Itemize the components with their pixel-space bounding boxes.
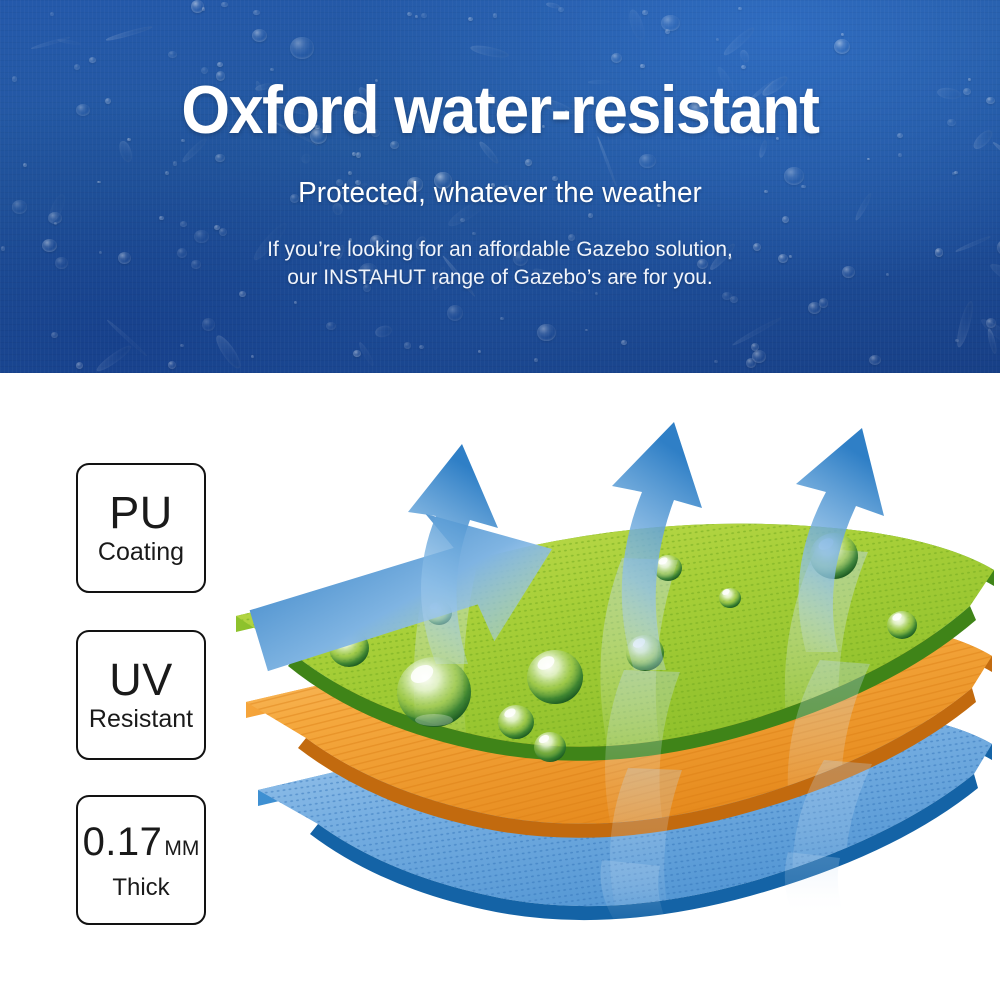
page-title: Oxford water-resistant [40,74,960,146]
droplet [397,657,471,727]
water-drop [217,62,223,67]
water-drop [869,355,881,365]
water-drop [348,171,352,175]
water-drop [352,152,356,156]
water-drop [251,355,254,358]
water-drop [738,7,742,11]
water-drop [407,12,412,16]
water-drop [751,343,760,351]
badge-uv-sub: Resistant [89,705,193,733]
water-drop [253,10,259,15]
water-drop [898,153,903,157]
badge-thickness-main: 0.17MM [83,819,200,872]
water-drop [419,345,424,350]
hero-banner: Oxford water-resistant Protected, whatev… [0,0,1000,373]
water-drop [239,291,245,297]
water-drop [356,152,361,158]
water-drop [294,301,297,304]
badge-thickness-value: 0.17 [83,819,163,865]
water-drop [12,76,18,82]
water-drop [963,88,971,95]
water-drop [165,171,169,175]
water-drop [642,10,648,14]
water-drop [585,329,588,332]
water-drop [54,222,57,225]
layered-fabric-illustration [230,420,1000,940]
water-drop [534,358,539,362]
water-drop [968,78,972,81]
water-drop [986,97,995,105]
water-drop [716,38,719,41]
feature-badge-pu-coating: PU Coating [76,463,206,593]
water-streak [373,324,392,338]
water-drop [752,350,766,363]
water-drop [741,65,746,69]
water-streak [300,152,313,165]
water-streak [971,127,996,152]
banner-subtitle: Protected, whatever the weather [20,176,980,210]
water-drop [478,350,481,353]
water-drop [270,68,273,71]
water-drop [819,298,829,307]
badge-thickness-unit: MM [164,826,199,872]
water-drop [404,342,411,348]
water-drop [89,57,96,63]
water-drop [841,33,844,36]
water-streak [469,44,509,61]
water-drop [221,2,227,8]
water-drop [595,292,598,295]
badge-pu-main: PU [109,490,173,536]
water-streak [721,25,757,58]
water-drop [202,318,215,331]
droplet [498,705,534,739]
water-drop [353,350,361,357]
badge-pu-sub: Coating [98,538,184,566]
water-drop [51,332,58,338]
water-drop [537,324,556,342]
water-drop [180,221,187,227]
badge-uv-main-text: UV [109,657,173,703]
water-drop [588,213,594,218]
water-streak [738,48,750,63]
water-streak [212,332,244,371]
water-drop [621,340,626,345]
feature-badge-uv-resistant: UV Resistant [76,630,206,760]
droplet [527,650,583,704]
water-drop [493,13,498,18]
water-streak [988,260,1000,296]
water-drop [954,171,958,174]
water-drop [730,296,738,303]
water-drop [23,163,28,167]
water-drop [525,159,532,166]
water-streak [57,38,81,46]
water-drop [472,232,476,236]
water-streak [546,1,561,9]
water-drop [252,29,267,42]
water-streak [954,299,976,348]
water-drop [168,51,177,59]
water-streak [94,343,133,373]
water-drop [640,64,645,69]
feature-badge-thickness: 0.17MM Thick [76,795,206,925]
water-drop [180,344,184,348]
water-drop [500,317,504,320]
water-drop [159,216,163,220]
water-drop [782,216,790,223]
water-drop [50,12,54,16]
water-drop [415,15,419,19]
droplet [534,732,566,762]
droplet [887,611,917,639]
water-streak [992,141,1000,175]
water-drop [219,228,227,236]
water-drop [661,15,679,31]
product-feature-image: Oxford water-resistant Protected, whatev… [0,0,1000,1000]
water-drop [202,7,206,11]
badge-pu-main-text: PU [109,490,173,536]
water-drop [714,360,718,364]
water-drop [639,154,656,168]
badge-uv-main: UV [109,657,173,703]
water-drop [168,361,176,369]
water-drop [215,154,225,163]
water-drop [326,322,336,330]
water-drop [611,53,622,63]
water-drop [290,37,314,60]
banner-body-line-2: our INSTAHUT range of Gazebo’s are for y… [15,264,985,290]
water-drop [867,158,870,161]
water-drop [468,17,473,21]
badge-thickness-sub: Thick [112,874,169,902]
water-drop [74,64,80,70]
water-drop [214,225,220,230]
water-drop [1,246,6,251]
water-streak [105,24,152,41]
water-drop [76,362,83,369]
banner-body-line-1: If you’re looking for an affordable Gaze… [15,236,985,262]
water-drop [834,39,850,54]
water-drop [447,305,463,321]
water-drop [421,13,427,19]
water-drop [173,161,178,165]
